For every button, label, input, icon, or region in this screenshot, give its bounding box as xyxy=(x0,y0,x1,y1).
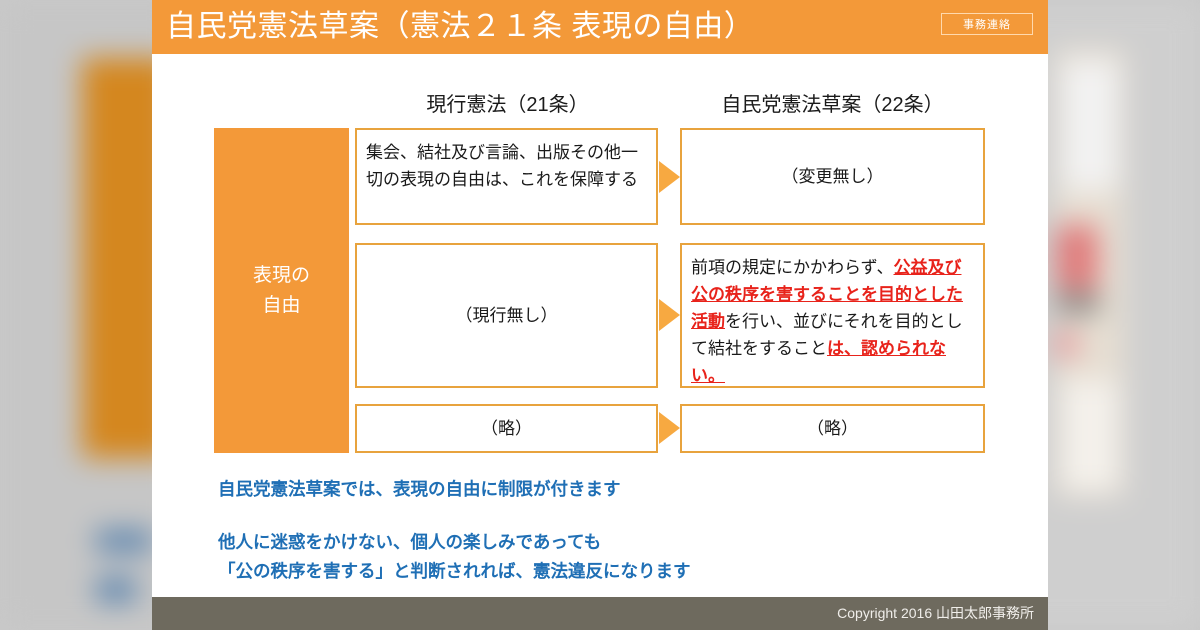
draft-text-plain-1: 前項の規定にかかわらず、 xyxy=(691,258,893,277)
copyright-text: Copyright 2016 山田太郎事務所 xyxy=(837,597,1034,630)
note-line-1: 自民党憲法草案では、表現の自由に制限が付きます xyxy=(218,475,621,504)
cell-current-row2: （現行無し） xyxy=(355,243,658,388)
page-title: 自民党憲法草案（憲法２１条 表現の自由） xyxy=(166,5,754,49)
cell-draft-row3: （略） xyxy=(680,404,985,453)
status-badge: 事務連絡 xyxy=(941,13,1033,35)
backdrop-dark-bar xyxy=(1056,292,1100,314)
backdrop-right-sheet xyxy=(1062,60,1118,190)
category-label-line1: 表現の xyxy=(253,261,310,291)
category-label-block: 表現の 自由 xyxy=(214,128,349,453)
note-line-2: 他人に迷惑をかけない、個人の楽しみであっても xyxy=(218,528,691,557)
backdrop-red-shape-2 xyxy=(1054,330,1078,358)
slide-card: 自民党憲法草案（憲法２１条 表現の自由） 事務連絡 現行憲法（21条） 自民党憲… xyxy=(152,0,1048,630)
backdrop-red-shape xyxy=(1056,225,1098,290)
cell-current-row1: 集会、結社及び言論、出版その他一切の表現の自由は、これを保障する xyxy=(355,128,658,225)
backdrop-blue-chip-2 xyxy=(96,578,136,602)
note-line-3: 「公の秩序を害する」と判断されれば、憲法違反になります xyxy=(218,557,691,586)
triangle-right-icon xyxy=(659,412,680,444)
slide-header-bar: 自民党憲法草案（憲法２１条 表現の自由） 事務連絡 xyxy=(152,0,1048,54)
cell-draft-row1: （変更無し） xyxy=(680,128,985,225)
triangle-right-icon xyxy=(659,299,680,331)
column-header-draft: 自民党憲法草案（22条） xyxy=(680,88,985,117)
note-block-2: 他人に迷惑をかけない、個人の楽しみであっても 「公の秩序を害する」と判断されれば… xyxy=(218,528,691,586)
cell-current-row3: （略） xyxy=(355,404,658,453)
slide-footer-bar: Copyright 2016 山田太郎事務所 xyxy=(152,597,1048,630)
column-header-current: 現行憲法（21条） xyxy=(355,88,660,117)
category-label-line2: 自由 xyxy=(262,291,300,321)
backdrop-blue-chip-1 xyxy=(96,530,152,552)
triangle-right-icon xyxy=(659,161,680,193)
backdrop-right-sheet-2 xyxy=(1062,380,1118,490)
screenshot-stage: 自民党憲法草案（憲法２１条 表現の自由） 事務連絡 現行憲法（21条） 自民党憲… xyxy=(0,0,1200,630)
cell-draft-row2: 前項の規定にかかわらず、公益及び公の秩序を害することを目的とした活動を行い、並び… xyxy=(680,243,985,388)
